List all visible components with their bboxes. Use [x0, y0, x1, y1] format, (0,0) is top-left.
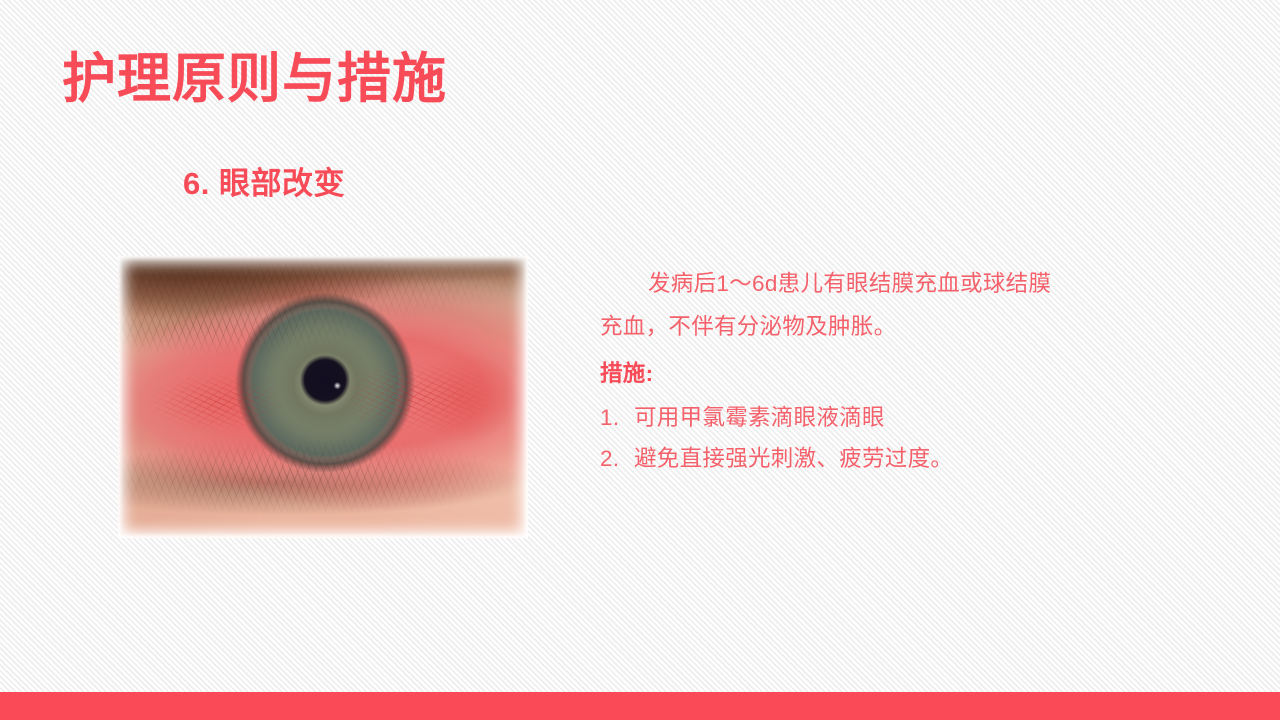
slide-canvas: 护理原则与措施 6. 眼部改变 发病后1～6d患儿有眼结膜充血或球结膜充血，不伴…: [0, 0, 1280, 720]
list-item-text: 避免直接强光刺激、疲劳过度。: [634, 438, 953, 479]
measures-heading: 措施:: [600, 358, 1062, 390]
content-text-block: 发病后1～6d患儿有眼结膜充血或球结膜充血，不伴有分泌物及肿胀。 措施: 1. …: [600, 262, 1062, 479]
page-title: 护理原则与措施: [62, 50, 447, 109]
section-subtitle: 6. 眼部改变: [183, 158, 345, 203]
list-item-number: 1.: [600, 397, 634, 438]
conjunctival-vessels-overlay: [118, 256, 528, 538]
footer-accent-bar: [0, 692, 1280, 720]
description-paragraph: 发病后1～6d患儿有眼结膜充血或球结膜充血，不伴有分泌物及肿胀。: [600, 262, 1062, 348]
list-item: 2. 避免直接强光刺激、疲劳过度。: [600, 438, 1062, 479]
list-item-text: 可用甲氯霉素滴眼液滴眼: [634, 397, 885, 438]
list-item: 1. 可用甲氯霉素滴眼液滴眼: [600, 397, 1062, 438]
eye-photo: [118, 256, 528, 538]
measures-list: 1. 可用甲氯霉素滴眼液滴眼 2. 避免直接强光刺激、疲劳过度。: [600, 397, 1062, 479]
list-item-number: 2.: [600, 438, 634, 479]
